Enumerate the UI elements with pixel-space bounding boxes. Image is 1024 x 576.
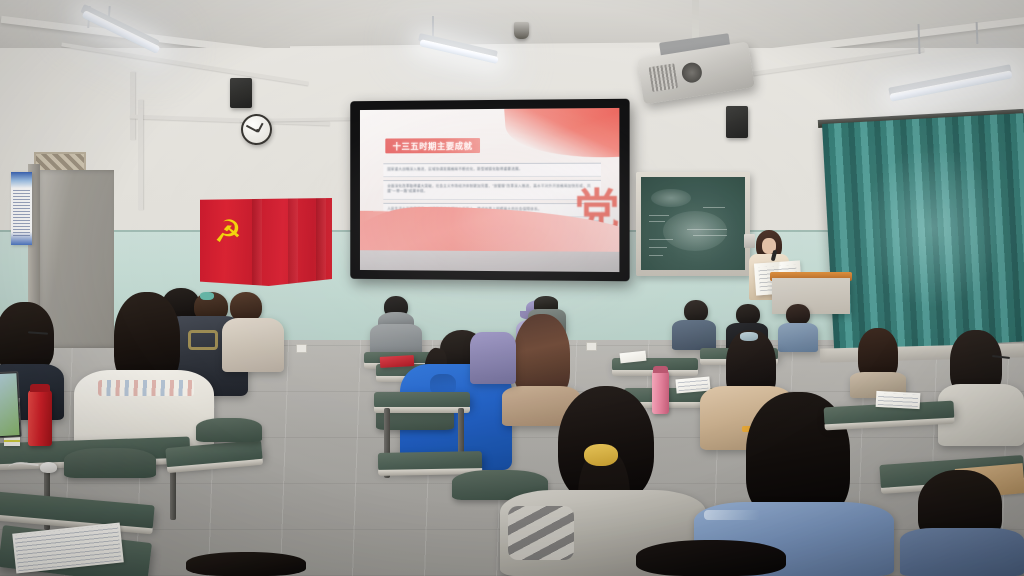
- student-hair: [684, 300, 708, 322]
- projection-screen: 十三五时期主要成就 国家重大战略深入推进，区域协调发展格局不断优化，新型城镇化取…: [350, 99, 629, 282]
- student-hair: [786, 304, 810, 325]
- ceiling-sensor: [514, 22, 529, 39]
- flag-fold-1: [252, 198, 262, 286]
- thermos-cap: [653, 366, 668, 373]
- student-top: [470, 332, 516, 384]
- slide-title-text: 十三五时期主要成就: [393, 140, 473, 152]
- chalk-writing-line: [649, 255, 663, 256]
- projector-vent: [649, 63, 679, 92]
- conduit-vertical-left2: [138, 100, 143, 210]
- student-bottom-center: [636, 540, 786, 576]
- chalk-smudge: [663, 211, 727, 251]
- paper-lines: [878, 393, 919, 407]
- green-chalkboard: [641, 177, 745, 270]
- red-thermos: [28, 390, 52, 446]
- student-right-mid: [850, 328, 906, 398]
- slide-footer-band: [360, 250, 619, 272]
- slide-surface: 十三五时期主要成就 国家重大战略深入推进，区域协调发展格局不断优化，新型城镇化取…: [360, 108, 619, 272]
- chalk-writing-line: [649, 247, 667, 248]
- wall-notice-poster: [11, 172, 32, 245]
- denim-seam: [704, 510, 760, 520]
- clock-center-dot: [256, 129, 259, 132]
- student-hair: [636, 540, 786, 576]
- chalk-writing-line: [649, 221, 665, 222]
- student-top: [900, 528, 1024, 576]
- chalk-writing-line: [703, 207, 725, 208]
- student-hair: [186, 552, 306, 576]
- worksheet-papers: [876, 391, 921, 409]
- projector-lens: [680, 61, 703, 84]
- slide-bullet-row: 全面深化改革取得重大突破，社会主义市场经济体制更加完善，"放管服"改革深入推进，…: [383, 180, 601, 200]
- student-pink-hair-tie: [222, 292, 284, 372]
- student-grey-sweater-glasses: [938, 330, 1024, 446]
- chalk-writing-line: [693, 235, 727, 236]
- conduit-vertical-left: [130, 72, 135, 140]
- chalk-writing-line: [687, 229, 727, 230]
- desk-center-front: [378, 451, 482, 471]
- laptop-screen-content: [0, 373, 20, 437]
- chalk-smudge: [651, 189, 691, 207]
- slide-title-banner: 十三五时期主要成就: [385, 138, 480, 153]
- curtain-backlight: [822, 113, 1024, 352]
- student-bottom-left: [186, 552, 306, 576]
- student-hair: [736, 304, 760, 325]
- wall-speaker-right: [726, 106, 748, 138]
- student-top: [222, 318, 284, 372]
- chalk-writing-line: [649, 215, 669, 216]
- chalk-writing-line: [649, 239, 673, 240]
- flag-fold-3: [316, 198, 326, 286]
- desk-center: [374, 392, 470, 408]
- slide-bullet-row: 国家重大战略深入推进，区域协调发展格局不断优化，新型城镇化取得重要进展。: [383, 163, 601, 178]
- wall-outlet-center: [586, 342, 597, 351]
- chair-back[interactable]: [64, 448, 156, 478]
- wall-outlet-left: [296, 344, 307, 353]
- laptop[interactable]: [0, 371, 22, 439]
- projector-mount-rod: [692, 0, 699, 42]
- wall-speaker-left: [230, 78, 252, 108]
- hair-clip: [740, 332, 758, 341]
- party-flag: ☭: [200, 198, 332, 286]
- analog-wall-clock: [241, 114, 272, 145]
- student-bottom-right: [900, 470, 1024, 576]
- student-purple-cap-body: [470, 332, 516, 384]
- sweater-pattern: [98, 380, 194, 396]
- chair-back[interactable]: [196, 418, 262, 442]
- student-hair: [0, 302, 54, 372]
- slide-bullet-text: 国家重大战略深入推进，区域协调发展格局不断优化，新型城镇化取得重要进展。: [387, 167, 597, 173]
- chalkboard-frame: [636, 172, 750, 276]
- student-cap: [534, 296, 558, 310]
- thermos-cap: [30, 384, 50, 392]
- yellow-hair-tie: [584, 444, 618, 466]
- classroom-photo: ☭ 十三五时期主要成就 国家重大战略深入推进，区域协调发展格局不断优化，新型城镇…: [0, 0, 1024, 576]
- sweater-sleeve-stripes: [508, 506, 574, 560]
- slide-bullet-text: 全面深化改革取得重大突破，社会主义市场经济体制更加完善，"放管服"改革深入推进，…: [387, 184, 597, 195]
- flag-fold-2: [288, 198, 298, 286]
- hammer-sickle-icon: ☭: [214, 214, 250, 250]
- computer-mouse[interactable]: [40, 462, 57, 473]
- teal-window-curtains[interactable]: [822, 113, 1024, 352]
- poster-text-lines: [13, 189, 30, 236]
- slide-decor-wave-top: [504, 108, 619, 165]
- light-rod-center: [432, 16, 434, 38]
